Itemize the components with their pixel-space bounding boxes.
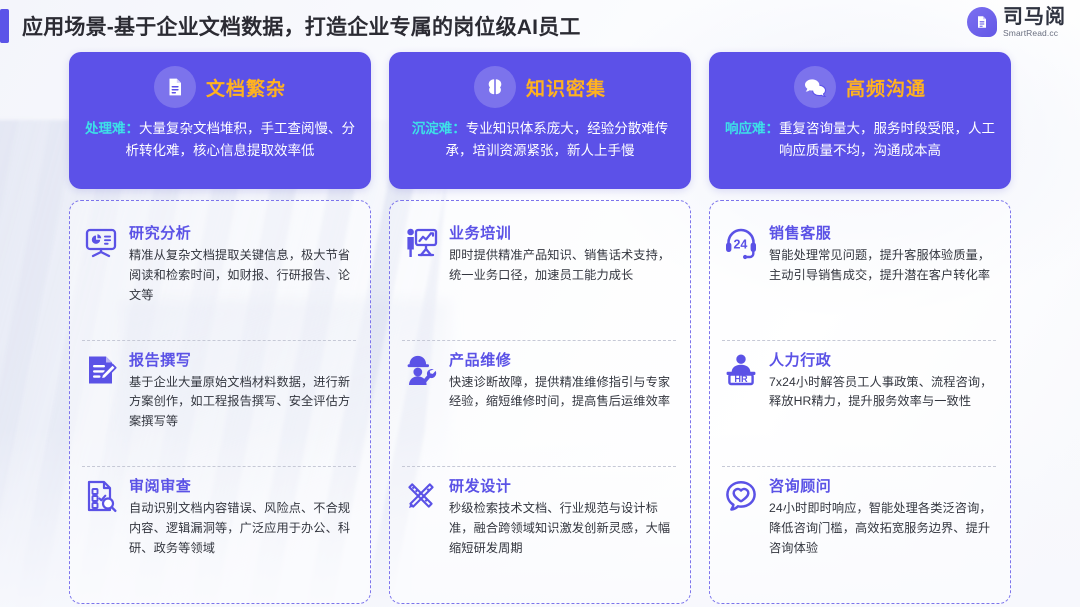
brand-logo: 司马阅 SmartRead.cc bbox=[967, 6, 1066, 38]
problem-description: 沉淀难：专业知识体系庞大，经验分散难传承，培训资源紧张，新人上手慢 bbox=[403, 118, 677, 163]
scenario-item-rnd-design[interactable]: 研发设计 秒级检索技术文档、行业规范与设计标准，融合跨领域知识激发创新灵感，大幅… bbox=[402, 466, 676, 593]
scenario-description: 快速诊断故障，提供精准维修指引与专家经验，缩短维修时间，提高售后运维效率 bbox=[449, 373, 676, 413]
title-accent-bar bbox=[0, 9, 9, 43]
problem-desc-text: 重复咨询量大，服务时段受限，人工响应质量不均，沟通成本高 bbox=[779, 121, 995, 158]
scenario-panel-communication: 24 销售客服 智能处理常见问题，提升客服体验质量，主动引导销售成交，提升潜在客… bbox=[709, 200, 1011, 604]
scenario-body: 审阅审查 自动识别文档内容错误、风险点、不合规内容、逻辑漏洞等，广泛应用于办公、… bbox=[129, 475, 356, 558]
problem-card-communication: 高频沟通 响应难：重复咨询量大，服务时段受限，人工响应质量不均，沟通成本高 bbox=[709, 52, 1011, 189]
scenario-description: 基于企业大量原始文档材料数据，进行新方案创作，如工程报告撰写、安全评估方案撰写等 bbox=[129, 373, 356, 432]
scenario-description: 秒级检索技术文档、行业规范与设计标准，融合跨领域知识激发创新灵感，大幅缩短研发周… bbox=[449, 499, 676, 558]
brand-logo-text: 司马阅 SmartRead.cc bbox=[1003, 6, 1066, 38]
scenario-columns: 文档繁杂 处理难：大量复杂文档堆积，手工查阅慢、分析转化难，核心信息提取效率低 bbox=[0, 52, 1080, 604]
scenario-item-report-writing[interactable]: 报告撰写 基于企业大量原始文档材料数据，进行新方案创作，如工程报告撰写、安全评估… bbox=[82, 340, 356, 467]
scenario-title: 报告撰写 bbox=[129, 349, 356, 370]
scenario-item-sales-support[interactable]: 24 销售客服 智能处理常见问题，提升客服体验质量，主动引导销售成交，提升潜在客… bbox=[722, 214, 996, 340]
headset-24-icon: 24 bbox=[722, 224, 760, 262]
scenario-title: 销售客服 bbox=[769, 222, 996, 243]
scenario-description: 智能处理常见问题，提升客服体验质量，主动引导销售成交，提升潜在客户转化率 bbox=[769, 246, 996, 286]
scenario-item-hr-admin[interactable]: HR 人力行政 7x24小时解答员工人事政策、流程咨询，释放HR精力，提升服务效… bbox=[722, 340, 996, 467]
scenario-body: 咨询顾问 24小时即时响应，智能处理各类泛咨询，降低咨询门槛，高效拓宽服务边界、… bbox=[769, 475, 996, 558]
scenario-body: 销售客服 智能处理常见问题，提升客服体验质量，主动引导销售成交，提升潜在客户转化… bbox=[769, 222, 996, 286]
ruler-pencil-icon bbox=[402, 477, 440, 515]
scenario-description: 自动识别文档内容错误、风险点、不合规内容、逻辑漏洞等，广泛应用于办公、科研、政务… bbox=[129, 499, 356, 558]
scenario-title: 人力行政 bbox=[769, 349, 996, 370]
page-header: 应用场景-基于企业文档数据，打造企业专属的岗位级AI员工 司马阅 SmartRe… bbox=[0, 0, 1080, 50]
scenario-panel-knowledge: 业务培训 即时提供精准产品知识、销售话术支持，统一业务口径，加速员工能力成长 产… bbox=[389, 200, 691, 604]
problem-key-label: 沉淀难： bbox=[412, 121, 466, 136]
scenario-body: 研究分析 精准从复杂文档提取关键信息，极大节省阅读和检索时间，如财报、行研报告、… bbox=[129, 222, 356, 305]
problem-title: 高频沟通 bbox=[846, 74, 926, 101]
problem-desc-text: 专业知识体系庞大，经验分散难传承，培训资源紧张，新人上手慢 bbox=[446, 121, 669, 158]
chat-bubbles-icon bbox=[794, 66, 836, 108]
page-title: 应用场景-基于企业文档数据，打造企业专属的岗位级AI员工 bbox=[22, 11, 581, 41]
scenario-title: 研发设计 bbox=[449, 475, 676, 496]
scenario-item-research[interactable]: 研究分析 精准从复杂文档提取关键信息，极大节省阅读和检索时间，如财报、行研报告、… bbox=[82, 214, 356, 340]
scenario-body: 研发设计 秒级检索技术文档、行业规范与设计标准，融合跨领域知识激发创新灵感，大幅… bbox=[449, 475, 676, 558]
scenario-description: 24小时即时响应，智能处理各类泛咨询，降低咨询门槛，高效拓宽服务边界、提升咨询体… bbox=[769, 499, 996, 558]
scenario-title: 审阅审查 bbox=[129, 475, 356, 496]
heart-bubble-icon bbox=[722, 477, 760, 515]
scenario-title: 咨询顾问 bbox=[769, 475, 996, 496]
scenario-description: 精准从复杂文档提取关键信息，极大节省阅读和检索时间，如财报、行研报告、论文等 bbox=[129, 246, 356, 305]
scenario-description: 即时提供精准产品知识、销售话术支持，统一业务口径，加速员工能力成长 bbox=[449, 246, 676, 286]
document-pencil-icon bbox=[82, 351, 120, 389]
scenario-item-consulting[interactable]: 咨询顾问 24小时即时响应，智能处理各类泛咨询，降低咨询门槛，高效拓宽服务边界、… bbox=[722, 466, 996, 593]
scenario-title: 业务培训 bbox=[449, 222, 676, 243]
scenario-title: 产品维修 bbox=[449, 349, 676, 370]
brand-name-en: SmartRead.cc bbox=[1003, 29, 1066, 38]
scenario-body: 报告撰写 基于企业大量原始文档材料数据，进行新方案创作，如工程报告撰写、安全评估… bbox=[129, 349, 356, 432]
scenario-body: 业务培训 即时提供精准产品知识、销售话术支持，统一业务口径，加速员工能力成长 bbox=[449, 222, 676, 286]
presenter-board-icon bbox=[402, 224, 440, 262]
scenario-item-maintenance[interactable]: 产品维修 快速诊断故障，提供精准维修指引与专家经验，缩短维修时间，提高售后运维效… bbox=[402, 340, 676, 467]
problem-card-knowledge: 知识密集 沉淀难：专业知识体系庞大，经验分散难传承，培训资源紧张，新人上手慢 bbox=[389, 52, 691, 189]
problem-key-label: 处理难： bbox=[85, 121, 139, 136]
svg-text:HR: HR bbox=[734, 374, 748, 384]
document-bubble-icon bbox=[967, 7, 997, 37]
column-knowledge: 知识密集 沉淀难：专业知识体系庞大，经验分散难传承，培训资源紧张，新人上手慢 bbox=[389, 52, 691, 604]
problem-title: 文档繁杂 bbox=[206, 74, 286, 101]
scenario-body: 人力行政 7x24小时解答员工人事政策、流程咨询，释放HR精力，提升服务效率与一… bbox=[769, 349, 996, 413]
problem-description: 响应难：重复咨询量大，服务时段受限，人工响应质量不均，沟通成本高 bbox=[723, 118, 997, 163]
worker-wrench-icon bbox=[402, 351, 440, 389]
column-documents: 文档繁杂 处理难：大量复杂文档堆积，手工查阅慢、分析转化难，核心信息提取效率低 bbox=[69, 52, 371, 604]
problem-card-header: 知识密集 bbox=[474, 66, 606, 108]
column-communication: 高频沟通 响应难：重复咨询量大，服务时段受限，人工响应质量不均，沟通成本高 24 bbox=[709, 52, 1011, 604]
scenario-item-review[interactable]: 审阅审查 自动识别文档内容错误、风险点、不合规内容、逻辑漏洞等，广泛应用于办公、… bbox=[82, 466, 356, 593]
problem-card-header: 高频沟通 bbox=[794, 66, 926, 108]
scenario-panel-documents: 研究分析 精准从复杂文档提取关键信息，极大节省阅读和检索时间，如财报、行研报告、… bbox=[69, 200, 371, 604]
scenario-description: 7x24小时解答员工人事政策、流程咨询，释放HR精力，提升服务效率与一致性 bbox=[769, 373, 996, 413]
problem-key-label: 响应难： bbox=[725, 121, 779, 136]
document-icon bbox=[154, 66, 196, 108]
problem-card-documents: 文档繁杂 处理难：大量复杂文档堆积，手工查阅慢、分析转化难，核心信息提取效率低 bbox=[69, 52, 371, 189]
checklist-search-icon bbox=[82, 477, 120, 515]
scenario-body: 产品维修 快速诊断故障，提供精准维修指引与专家经验，缩短维修时间，提高售后运维效… bbox=[449, 349, 676, 413]
problem-title: 知识密集 bbox=[526, 74, 606, 101]
brand-name-cn: 司马阅 bbox=[1003, 6, 1066, 26]
scenario-title: 研究分析 bbox=[129, 222, 356, 243]
problem-desc-text: 大量复杂文档堆积，手工查阅慢、分析转化难，核心信息提取效率低 bbox=[126, 121, 356, 158]
problem-card-header: 文档繁杂 bbox=[154, 66, 286, 108]
scenario-item-training[interactable]: 业务培训 即时提供精准产品知识、销售话术支持，统一业务口径，加速员工能力成长 bbox=[402, 214, 676, 340]
problem-description: 处理难：大量复杂文档堆积，手工查阅慢、分析转化难，核心信息提取效率低 bbox=[83, 118, 357, 163]
brain-icon bbox=[474, 66, 516, 108]
hr-desk-icon: HR bbox=[722, 351, 760, 389]
svg-text:24: 24 bbox=[733, 238, 747, 252]
chart-board-icon bbox=[82, 224, 120, 262]
